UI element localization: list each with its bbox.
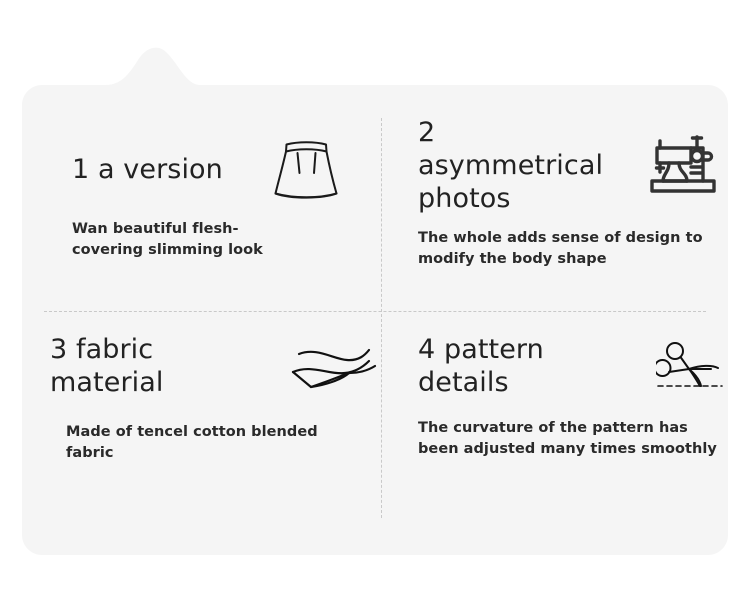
skirt-icon xyxy=(271,131,341,205)
folded-fabric-icon xyxy=(289,345,381,393)
scissors-icon xyxy=(656,341,728,395)
infographic-panel: 1 a version Wan beautiful flesh-covering… xyxy=(0,0,750,595)
feature-4-header: 4 pattern details xyxy=(418,334,728,400)
feature-2-header: 2 asymmetrical photos xyxy=(418,117,728,216)
feature-cell-4: 4 pattern details The curvature xyxy=(381,311,728,555)
feature-1-title: 1 a version xyxy=(72,154,223,187)
feature-1-description: Wan beautiful flesh-covering slimming lo… xyxy=(72,219,282,261)
feature-grid: 1 a version Wan beautiful flesh-covering… xyxy=(22,85,728,555)
feature-2-description: The whole adds sense of design to modify… xyxy=(418,228,718,270)
feature-1-header: 1 a version xyxy=(72,135,381,205)
feature-3-header: 3 fabric material xyxy=(50,334,381,400)
feature-3-description: Made of tencel cotton blended fabric xyxy=(66,422,351,464)
feature-cell-3: 3 fabric material Made of tencel cotton … xyxy=(22,311,381,555)
sewing-machine-icon xyxy=(649,135,717,201)
feature-cell-1: 1 a version Wan beautiful flesh-covering… xyxy=(22,85,381,311)
feature-cell-2: 2 asymmetrical photos xyxy=(381,85,728,311)
feature-4-description: The curvature of the pattern has been ad… xyxy=(418,418,718,460)
feature-4-title: 4 pattern details xyxy=(418,334,634,400)
feature-3-title: 3 fabric material xyxy=(50,334,267,400)
feature-2-title: 2 asymmetrical photos xyxy=(418,117,623,216)
